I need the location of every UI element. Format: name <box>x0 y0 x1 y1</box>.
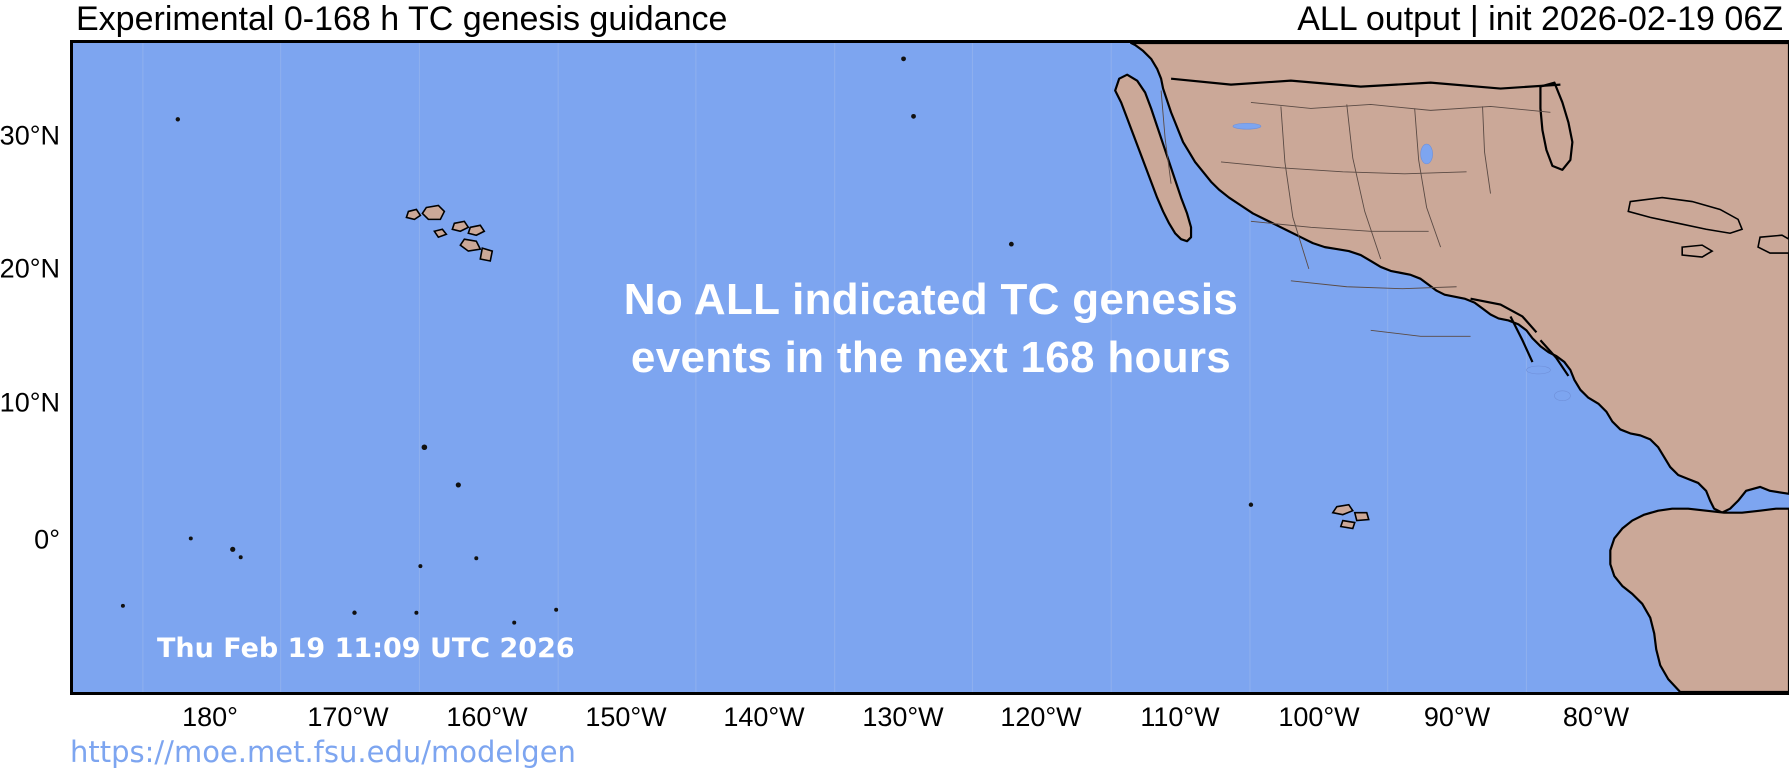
tc-genesis-guidance-figure: Experimental 0-168 h TC genesis guidance… <box>0 0 1789 768</box>
x-tick-label-6: 120°W <box>1000 702 1081 733</box>
y-tick-label-2: 10°N <box>60 388 120 419</box>
basemap-svg <box>73 43 1789 692</box>
valid-time-stamp: Thu Feb 19 11:09 UTC 2026 <box>157 633 575 664</box>
y-tick-label-3: 0° <box>60 525 86 556</box>
y-tick-label-0: 30°N <box>60 121 120 152</box>
x-tick-label-10: 80°W <box>1563 702 1629 733</box>
output-init-label: ALL output | init 2026-02-19 06Z <box>1297 0 1783 38</box>
x-tick-label-5: 130°W <box>862 702 943 733</box>
y-tick-label-text-2: 10°N <box>0 388 60 419</box>
y-tick-label-1: 20°N <box>60 254 120 285</box>
x-tick-label-2: 160°W <box>446 702 527 733</box>
x-tick-label-8: 100°W <box>1278 702 1359 733</box>
y-tick-label-text-0: 30°N <box>0 121 60 152</box>
source-url-link[interactable]: https://moe.met.fsu.edu/modelgen <box>70 735 576 769</box>
x-tick-label-0: 180° <box>182 702 238 733</box>
x-tick-label-4: 140°W <box>723 702 804 733</box>
map-plot-area[interactable]: No ALL indicated TC genesis events in th… <box>70 40 1789 695</box>
y-tick-label-text-1: 20°N <box>0 254 60 285</box>
x-tick-label-3: 150°W <box>585 702 666 733</box>
page-title: Experimental 0-168 h TC genesis guidance <box>76 0 727 38</box>
x-tick-label-7: 110°W <box>1140 702 1219 733</box>
y-tick-label-text-3: 0° <box>34 525 60 556</box>
x-tick-label-1: 170°W <box>307 702 388 733</box>
x-tick-label-9: 90°W <box>1424 702 1490 733</box>
